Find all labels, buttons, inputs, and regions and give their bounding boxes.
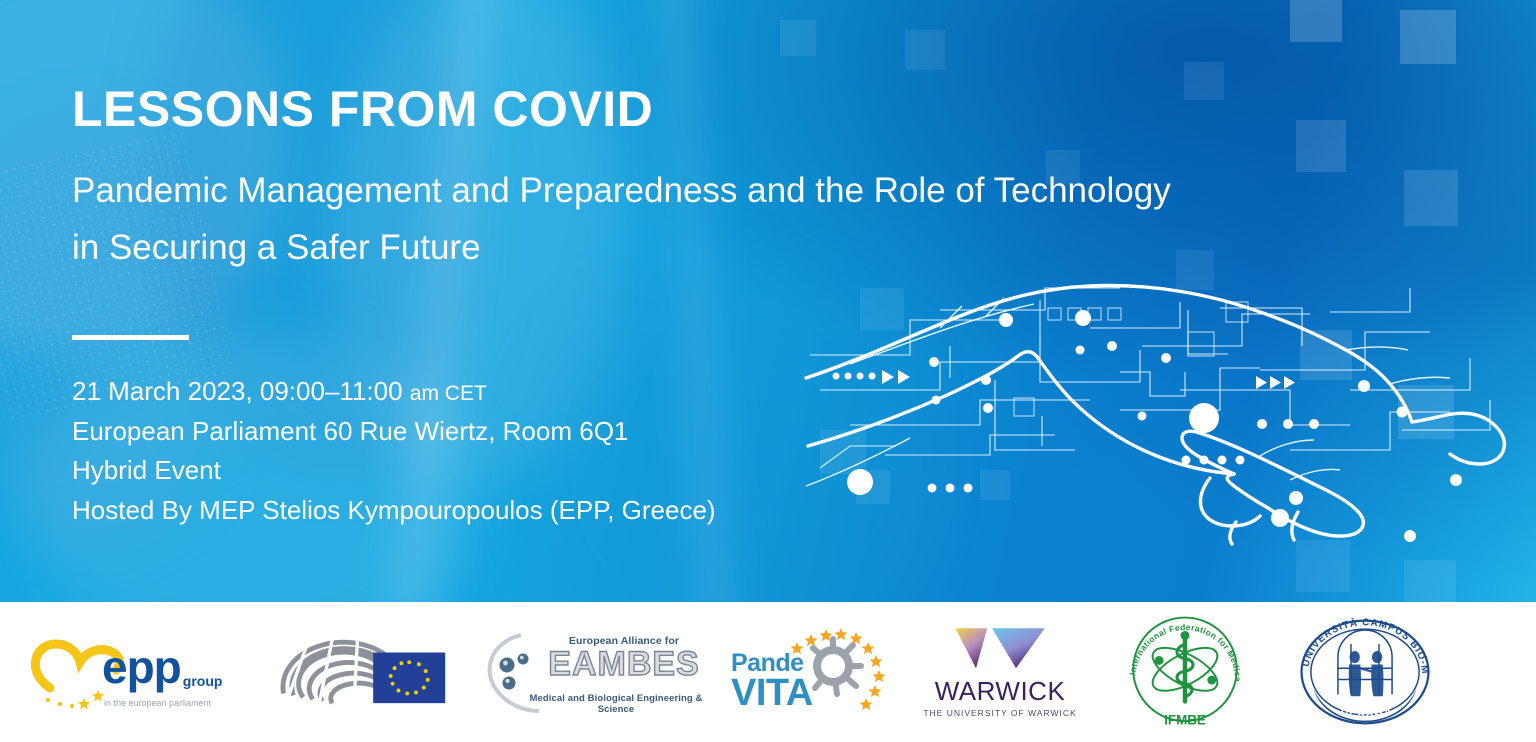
event-banner: LESSONS FROM COVID Pandemic Management a… (0, 0, 1536, 742)
event-venue: European Parliament 60 Rue Wiertz, Room … (72, 412, 716, 452)
eambes-acronym: EAMBES (535, 647, 713, 683)
warwick-wordmark: WARWICK (915, 677, 1085, 706)
event-details: 21 March 2023, 09:00–11:00 am CET Europe… (72, 372, 716, 530)
hero-section: LESSONS FROM COVID Pandemic Management a… (0, 0, 1536, 602)
divider-rule (72, 335, 189, 340)
page-title: LESSONS FROM COVID (72, 82, 1472, 137)
epp-group-label: group (183, 674, 223, 688)
ucbm-roma-seal-icon: UNIVERSITÀ CAMPUS BIO-MEDICO DI ROMA (1295, 616, 1435, 728)
eambes-bottom-line: Medical and Biological Engineering & Sci… (519, 693, 713, 715)
logo-pandevita: Pande VITA (720, 617, 900, 727)
logo-ifmbe: International Federation for Medical and… (1100, 617, 1270, 727)
warwick-subtitle: THE UNIVERSITY OF WARWICK (915, 708, 1085, 718)
subtitle-line-2: in Securing a Safer Future (72, 220, 1462, 277)
logo-epp: epp group in the european parliament (0, 617, 250, 727)
ifmbe-acronym: IFMBE (1164, 713, 1206, 728)
ifmbe-circular-emblem-icon: International Federation for Medical and… (1122, 614, 1248, 730)
european-parliament-hemicycle-icon (268, 627, 453, 717)
page-subtitle: Pandemic Management and Preparedness and… (72, 163, 1462, 276)
warwick-w-mark-icon (952, 626, 1048, 672)
hero-text-block: LESSONS FROM COVID Pandemic Management a… (72, 82, 1472, 276)
logo-eambes: European Alliance for EAMBES Medical and… (470, 617, 720, 727)
epp-tagline: in the european parliament (104, 698, 211, 710)
event-format: Hybrid Event (72, 451, 716, 491)
event-datetime-suffix: am CET (410, 382, 487, 405)
event-datetime: 21 March 2023, 09:00–11:00 am CET (72, 372, 716, 412)
two-hands-circuit-illustration (790, 250, 1536, 550)
subtitle-line-1: Pandemic Management and Preparedness and… (72, 163, 1462, 220)
event-datetime-main: 21 March 2023, 09:00–11:00 (72, 376, 403, 406)
logo-ucbm-roma: UNIVERSITÀ CAMPUS BIO-MEDICO DI ROMA (1270, 617, 1460, 727)
logo-warwick: WARWICK THE UNIVERSITY OF WARWICK (900, 617, 1100, 727)
logo-european-parliament (250, 617, 470, 727)
pandevita-line-2: VITA (731, 676, 813, 711)
event-host: Hosted By MEP Stelios Kympouropoulos (EP… (72, 491, 716, 531)
sponsor-logo-bar: epp group in the european parliament (0, 602, 1536, 742)
epp-wordmark: epp (102, 646, 181, 690)
